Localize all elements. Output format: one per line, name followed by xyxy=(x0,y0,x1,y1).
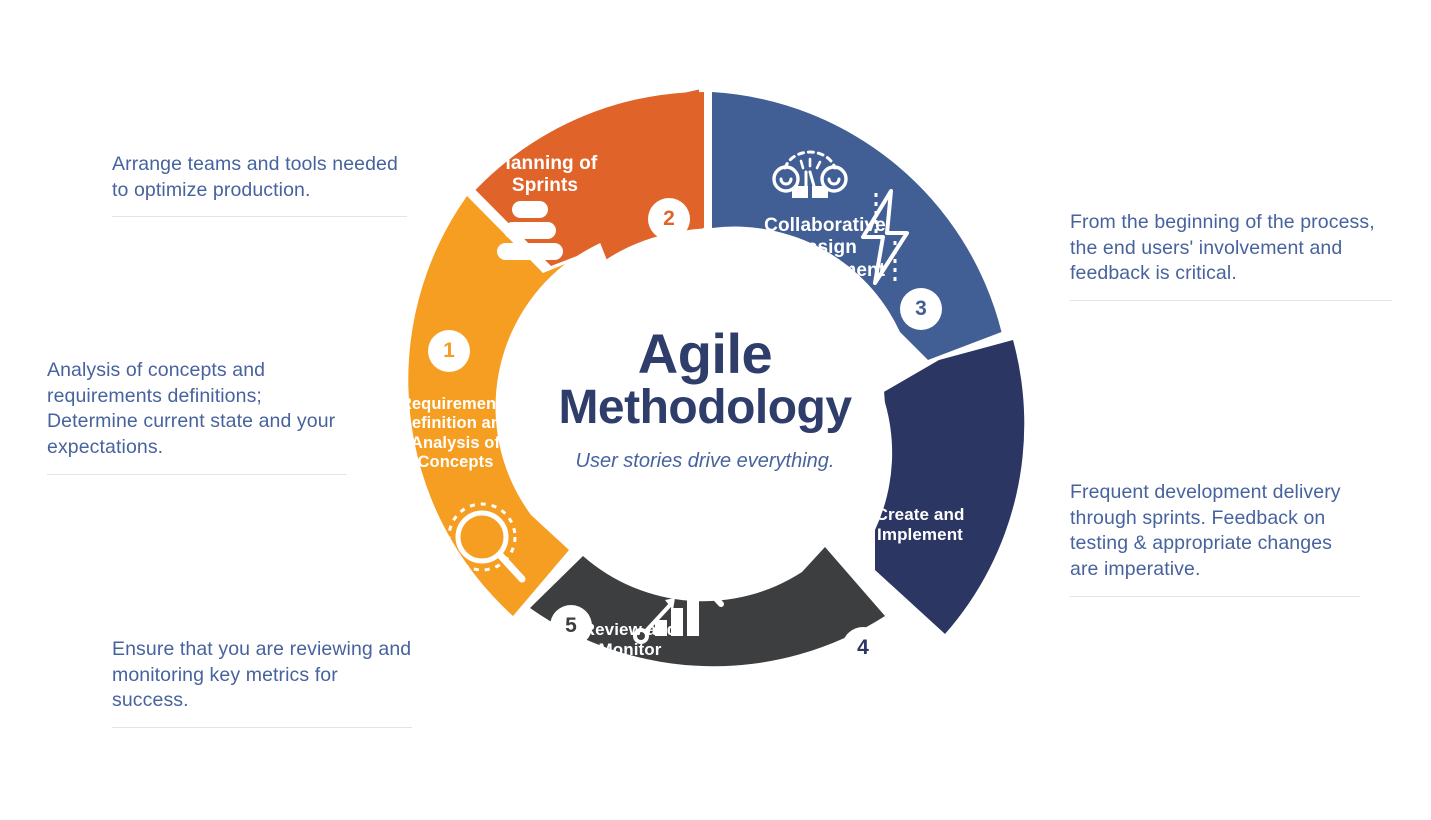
center-subtitle: User stories drive everything. xyxy=(520,450,890,473)
center-title-agile: Agile xyxy=(520,325,890,382)
note-create-text: Frequent development delivery through sp… xyxy=(1070,481,1341,580)
segment-1-badge[interactable]: 1 xyxy=(428,330,470,372)
high-five-collaboration-icon xyxy=(765,142,855,212)
center-title-methodology: Methodology xyxy=(520,382,890,434)
infographic-canvas: Planning of Sprints Collaborative Design… xyxy=(0,0,1431,820)
segment-2-number: 2 xyxy=(663,207,675,231)
note-review: Ensure that you are reviewing and monito… xyxy=(112,637,412,728)
note-collaborative-rule xyxy=(1070,300,1392,301)
segment-5-badge[interactable]: 5 xyxy=(550,605,592,647)
wedge-create-implement[interactable] xyxy=(875,340,1024,634)
segment-1-label-l4: Concepts xyxy=(418,453,494,471)
note-review-text: Ensure that you are reviewing and monito… xyxy=(112,638,411,711)
segment-5-number: 5 xyxy=(565,614,577,638)
segment-5-label-l1: Review and xyxy=(583,620,678,639)
note-create: Frequent development delivery through sp… xyxy=(1070,480,1360,597)
note-planning-text: Arrange teams and tools needed to optimi… xyxy=(112,153,398,201)
note-review-rule xyxy=(112,727,412,728)
segment-3-label: Collaborative Design Development xyxy=(725,215,925,282)
note-requirements-text: Analysis of concepts and requirements de… xyxy=(47,359,335,458)
note-collaborative: From the beginning of the process, the e… xyxy=(1070,210,1392,301)
segment-3-badge[interactable]: 3 xyxy=(900,288,942,330)
segment-2-badge[interactable]: 2 xyxy=(648,198,690,240)
segment-4-number: 4 xyxy=(857,636,869,660)
segment-2-label-l1: Planning of xyxy=(493,153,598,174)
segment-2-label-l2: Sprints xyxy=(512,175,578,196)
note-create-rule xyxy=(1070,596,1360,597)
segment-4-label-l2: Implement xyxy=(877,525,963,544)
segment-5-label-l2: Monitor xyxy=(598,640,661,659)
magnifier-icon xyxy=(440,495,540,595)
segment-3-label-l2: Design xyxy=(793,237,857,258)
note-planning: Arrange teams and tools needed to optimi… xyxy=(112,152,407,217)
segment-4-label-l1: Create and xyxy=(876,505,965,524)
note-requirements: Analysis of concepts and requirements de… xyxy=(47,358,347,475)
segment-3-label-l1: Collaborative xyxy=(764,215,886,236)
note-planning-rule xyxy=(112,216,407,217)
segment-1-label-l1: Requirements xyxy=(400,395,511,413)
segment-1-label-l3: Analysis of xyxy=(411,434,500,452)
segment-1-label-l2: Definition and xyxy=(400,414,511,432)
segment-3-label-l3: Development xyxy=(765,260,885,281)
segment-4-label: Create and Implement xyxy=(845,505,995,545)
stacked-layers-icon xyxy=(485,195,575,265)
segment-1-label: Requirements Definition and Analysis of … xyxy=(378,395,533,473)
note-requirements-rule xyxy=(47,474,347,475)
segment-4-badge[interactable]: 4 xyxy=(842,627,884,669)
note-collaborative-text: From the beginning of the process, the e… xyxy=(1070,211,1375,284)
segment-1-number: 1 xyxy=(443,339,455,363)
segment-3-number: 3 xyxy=(915,297,927,321)
center-title: Agile Methodology xyxy=(520,325,890,434)
segment-2-label: Planning of Sprints xyxy=(465,153,625,198)
